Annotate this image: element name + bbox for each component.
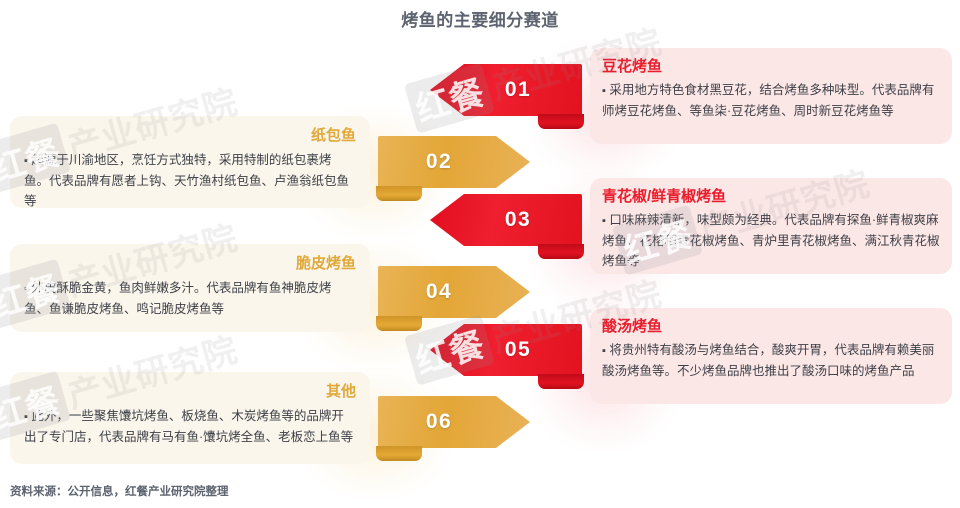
card-caption: 豆花烤鱼	[602, 56, 940, 78]
card-body: ▪ 此外，一些聚焦馕坑烤鱼、板烧鱼、木炭烤鱼等的品牌开出了专门店，代表品牌有马有…	[24, 406, 356, 447]
card-body: ▪ 口味麻辣清新，味型颇为经典。代表品牌有探鱼·鲜青椒爽麻烤鱼、花榕稻青花椒烤鱼…	[602, 210, 940, 271]
ribbon-number: 02	[378, 136, 530, 188]
card-body: ▪ 外皮酥脆金黄，鱼肉鲜嫩多汁。代表品牌有鱼神脆皮烤鱼、鱼谦脆皮烤鱼、鸣记脆皮烤…	[24, 278, 356, 319]
card-body-text: 采用地方特色食材黑豆花，结合烤鱼多种味型。代表品牌有师烤豆花烤鱼、等鱼柒·豆花烤…	[602, 83, 934, 118]
card-body-text: 此外，一些聚焦馕坑烤鱼、板烧鱼、木炭烤鱼等的品牌开出了专门店，代表品牌有马有鱼·…	[24, 409, 353, 444]
card-zhibaoyu[interactable]: 纸包鱼 ▪ 起源于川渝地区，烹饪方式独特，采用特制的纸包裹烤鱼。代表品牌有愿者上…	[10, 116, 370, 208]
card-qinghuajiaokaoyu[interactable]: 青花椒/鲜青椒烤鱼 ▪ 口味麻辣清新，味型颇为经典。代表品牌有探鱼·鲜青椒爽麻烤…	[590, 178, 952, 274]
ribbon-number: 05	[430, 324, 582, 376]
bullet-icon: ▪	[602, 345, 606, 357]
infographic-canvas: 红餐产业研究院 红餐产业研究院 红餐产业研究院 红餐产业研究院 红餐产业研究院 …	[0, 0, 960, 508]
ribbon-01[interactable]: 01	[430, 64, 582, 116]
ribbon-number: 03	[430, 194, 582, 246]
card-caption: 纸包鱼	[24, 126, 356, 146]
ribbon-04[interactable]: 04	[378, 266, 530, 318]
ribbon-number: 04	[378, 266, 530, 318]
card-suantangkaoyu[interactable]: 酸汤烤鱼 ▪ 将贵州特有酸汤与烤鱼结合，酸爽开胃，代表品牌有赖美丽酸汤烤鱼等。不…	[590, 308, 952, 404]
source-note: 资料来源：公开信息，红餐产业研究院整理	[10, 483, 229, 499]
ribbon-03[interactable]: 03	[430, 194, 582, 246]
card-caption: 脆皮烤鱼	[24, 254, 356, 274]
ribbon-fold	[376, 186, 422, 201]
ribbon-fold	[376, 446, 422, 461]
card-body: ▪ 将贵州特有酸汤与烤鱼结合，酸爽开胃，代表品牌有赖美丽酸汤烤鱼等。不少烤鱼品牌…	[602, 340, 940, 381]
card-body-text: 将贵州特有酸汤与烤鱼结合，酸爽开胃，代表品牌有赖美丽酸汤烤鱼等。不少烤鱼品牌也推…	[602, 343, 934, 378]
card-qita[interactable]: 其他 ▪ 此外，一些聚焦馕坑烤鱼、板烧鱼、木炭烤鱼等的品牌开出了专门店，代表品牌…	[10, 372, 370, 464]
ribbon-02[interactable]: 02	[378, 136, 530, 188]
ribbon-number: 01	[430, 64, 582, 116]
card-body-text: 起源于川渝地区，烹饪方式独特，采用特制的纸包裹烤鱼。代表品牌有愿者上钩、天竹渔村…	[24, 153, 349, 208]
ribbon-06[interactable]: 06	[378, 396, 530, 448]
card-caption: 青花椒/鲜青椒烤鱼	[602, 186, 940, 208]
ribbon-fold	[538, 374, 584, 389]
ribbon-fold	[376, 316, 422, 331]
ribbon-05[interactable]: 05	[430, 324, 582, 376]
card-body-text: 外皮酥脆金黄，鱼肉鲜嫩多汁。代表品牌有鱼神脆皮烤鱼、鱼谦脆皮烤鱼、鸣记脆皮烤鱼等	[24, 281, 331, 316]
card-body: ▪ 采用地方特色食材黑豆花，结合烤鱼多种味型。代表品牌有师烤豆花烤鱼、等鱼柒·豆…	[602, 80, 940, 121]
card-body: ▪ 起源于川渝地区，烹饪方式独特，采用特制的纸包裹烤鱼。代表品牌有愿者上钩、天竹…	[24, 150, 356, 211]
ribbon-fold	[538, 114, 584, 129]
bullet-icon: ▪	[24, 283, 28, 295]
card-caption: 酸汤烤鱼	[602, 316, 940, 338]
card-body-text: 口味麻辣清新，味型颇为经典。代表品牌有探鱼·鲜青椒爽麻烤鱼、花榕稻青花椒烤鱼、青…	[602, 213, 940, 268]
ribbon-number: 06	[378, 396, 530, 448]
bullet-icon: ▪	[602, 85, 606, 97]
card-douhuakaoyu[interactable]: 豆花烤鱼 ▪ 采用地方特色食材黑豆花，结合烤鱼多种味型。代表品牌有师烤豆花烤鱼、…	[590, 48, 952, 144]
bullet-icon: ▪	[24, 155, 28, 167]
bullet-icon: ▪	[24, 411, 28, 423]
page-title: 烤鱼的主要细分赛道	[0, 6, 960, 31]
card-caption: 其他	[24, 382, 356, 402]
bullet-icon: ▪	[602, 215, 606, 227]
card-cuipikaoyu[interactable]: 脆皮烤鱼 ▪ 外皮酥脆金黄，鱼肉鲜嫩多汁。代表品牌有鱼神脆皮烤鱼、鱼谦脆皮烤鱼、…	[10, 244, 370, 332]
ribbon-fold	[538, 244, 584, 259]
